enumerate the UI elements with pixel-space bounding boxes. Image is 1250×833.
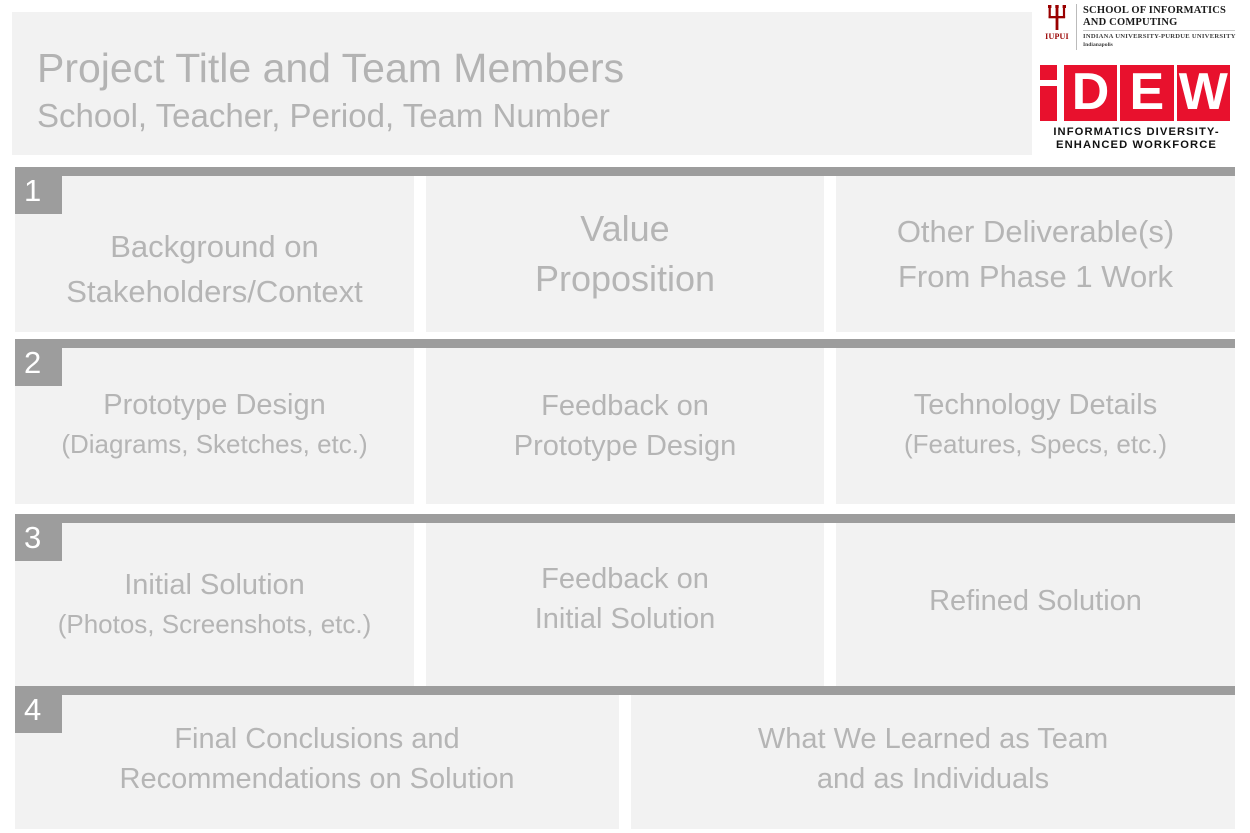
idew-letter-d: D [1064,65,1117,121]
phase-number-badge-1: 1 [15,167,62,214]
placeholder-line-2: Recommendations on Solution [120,759,515,799]
iupui-wordmark: IUPUI [1040,32,1074,41]
content-placeholder-4-2[interactable]: What We Learned as Team and as Individua… [631,695,1235,829]
idew-letter-i [1040,65,1057,121]
placeholder-line-1: Final Conclusions and [174,719,459,759]
iu-university-line: INDIANA UNIVERSITY-PURDUE UNIVERSITY [1083,33,1236,41]
content-placeholder-4-1[interactable]: Final Conclusions and Recommendations on… [15,695,619,829]
idew-i-dot [1040,65,1057,80]
placeholder-line-1: What We Learned as Team [758,719,1108,759]
placeholder-line-1: Other Deliverable(s) [897,209,1174,254]
idew-tagline-line-1: INFORMATICS DIVERSITY- [1040,126,1233,139]
iu-logo-text: SCHOOL OF INFORMATICS AND COMPUTING INDI… [1083,4,1236,49]
phase-row-4-cards: Final Conclusions and Recommendations on… [15,695,1235,829]
content-placeholder-3-3[interactable]: Refined Solution [836,523,1235,688]
phase-row-2-cards: Prototype Design (Diagrams, Sketches, et… [15,348,1235,504]
placeholder-line-2: and as Individuals [817,759,1049,799]
placeholder-line-1: Technology Details [914,385,1157,425]
idew-letterforms: D E W [1040,59,1233,121]
title-placeholder[interactable]: Project Title and Team Members School, T… [12,12,1032,155]
idew-logo: D E W INFORMATICS DIVERSITY- ENHANCED WO… [1040,59,1233,152]
phase-bar-4 [15,686,1235,695]
page-subtitle: School, Teacher, Period, Team Number [37,94,1032,138]
idew-letter-w: W [1177,65,1230,121]
placeholder-line-2: Initial Solution [535,599,716,639]
content-placeholder-1-3[interactable]: Other Deliverable(s) From Phase 1 Work [836,176,1235,332]
phase-bar-3 [15,514,1235,523]
placeholder-line-1: Initial Solution [124,565,305,605]
placeholder-line-2: From Phase 1 Work [898,254,1173,299]
content-placeholder-3-1[interactable]: Initial Solution (Photos, Screenshots, e… [15,523,414,688]
placeholder-line-2: (Photos, Screenshots, etc.) [58,605,372,643]
placeholder-line-2: Prototype Design [514,426,736,466]
idew-tagline-line-2: ENHANCED WORKFORCE [1040,139,1233,152]
phase-number-badge-3: 3 [15,514,62,561]
placeholder-line-1: Value [580,204,669,254]
phase-number-badge-4: 4 [15,686,62,733]
placeholder-line-2: Stakeholders/Context [66,269,362,314]
idew-letter-e: E [1120,65,1173,121]
iu-city-line: Indianapolis [1083,41,1236,49]
placeholder-line-2: (Features, Specs, etc.) [904,425,1167,463]
iu-school-logo: IUPUI SCHOOL OF INFORMATICS AND COMPUTIN… [1040,4,1245,50]
slide-canvas: Project Title and Team Members School, T… [0,0,1250,833]
placeholder-line-2: (Diagrams, Sketches, etc.) [61,425,367,463]
phase-row-3-cards: Initial Solution (Photos, Screenshots, e… [15,523,1235,688]
idew-tagline: INFORMATICS DIVERSITY- ENHANCED WORKFORC… [1040,126,1233,152]
phase-bar-1 [15,167,1235,176]
iu-trident-icon [1047,5,1067,31]
placeholder-line-1: Refined Solution [929,581,1142,621]
content-placeholder-1-1[interactable]: Background on Stakeholders/Context [15,176,414,332]
placeholder-line-1: Feedback on [541,559,709,599]
iu-trident-lockup: IUPUI [1040,4,1074,41]
placeholder-line-1: Background on [110,224,319,269]
phase-row-1-cards: Background on Stakeholders/Context Value… [15,176,1235,332]
placeholder-line-1: Feedback on [541,386,709,426]
content-placeholder-1-2[interactable]: Value Proposition [426,176,824,332]
content-placeholder-2-3[interactable]: Technology Details (Features, Specs, etc… [836,348,1235,504]
phase-bar-2 [15,339,1235,348]
idew-i-stem [1040,86,1057,121]
content-placeholder-3-2[interactable]: Feedback on Initial Solution [426,523,824,688]
page-title: Project Title and Team Members [37,42,1032,94]
content-placeholder-2-1[interactable]: Prototype Design (Diagrams, Sketches, et… [15,348,414,504]
content-placeholder-2-2[interactable]: Feedback on Prototype Design [426,348,824,504]
iu-school-line-2: AND COMPUTING [1083,17,1236,29]
logo-divider [1076,4,1077,50]
iu-text-rule [1083,30,1235,31]
placeholder-line-1: Prototype Design [103,385,325,425]
iu-school-line-1: SCHOOL OF INFORMATICS [1083,5,1236,17]
phase-number-badge-2: 2 [15,339,62,386]
placeholder-line-2: Proposition [535,254,715,304]
logo-area: IUPUI SCHOOL OF INFORMATICS AND COMPUTIN… [1040,4,1245,156]
